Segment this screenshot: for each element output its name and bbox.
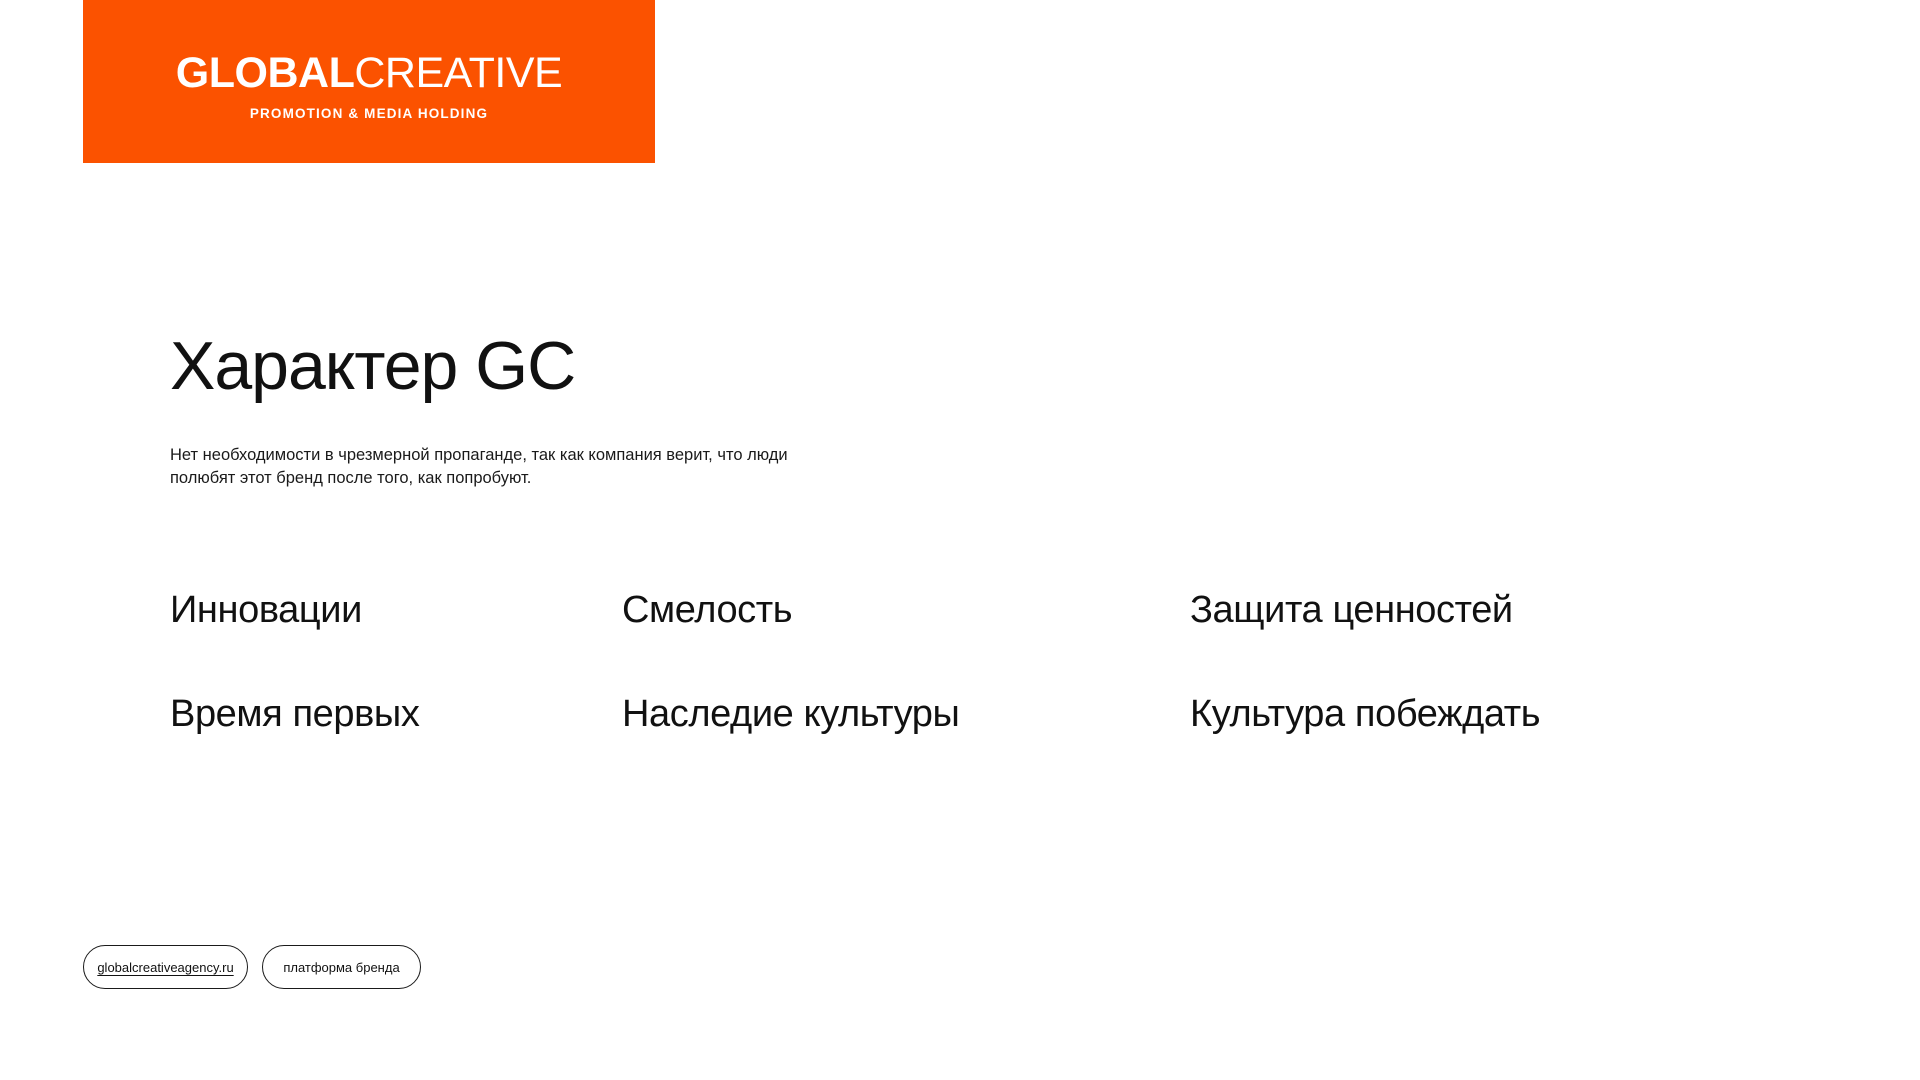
values-grid: Инновации Смелость Защита ценностей Врем… bbox=[170, 588, 1590, 737]
value-item: Время первых bbox=[170, 692, 622, 738]
value-item: Смелость bbox=[622, 588, 1190, 634]
value-item: Инновации bbox=[170, 588, 622, 634]
slide-root: GLOBAL CREATIVE PROMOTION & MEDIA HOLDIN… bbox=[0, 0, 1920, 1080]
brand-platform-tag-label: платформа бренда bbox=[283, 960, 399, 975]
value-item: Наследие культуры bbox=[622, 692, 1190, 738]
page-title: Характер GC bbox=[170, 330, 575, 403]
brand-wordmark-bold: GLOBAL bbox=[176, 52, 355, 95]
value-item: Защита ценностей bbox=[1190, 588, 1590, 634]
brand-tagline: PROMOTION & MEDIA HOLDING bbox=[250, 106, 488, 121]
website-link-label: globalcreativeagency.ru bbox=[97, 960, 233, 975]
brand-logo-block: GLOBAL CREATIVE PROMOTION & MEDIA HOLDIN… bbox=[83, 0, 655, 163]
intro-paragraph: Нет необходимости в чрезмерной пропаганд… bbox=[170, 444, 830, 491]
website-link-pill[interactable]: globalcreativeagency.ru bbox=[83, 945, 248, 989]
brand-wordmark: GLOBAL CREATIVE bbox=[176, 52, 562, 95]
value-item: Культура побеждать bbox=[1190, 692, 1590, 738]
brand-platform-tag-pill[interactable]: платформа бренда bbox=[262, 945, 421, 989]
brand-wordmark-light: CREATIVE bbox=[354, 52, 562, 95]
footer-pills: globalcreativeagency.ru платформа бренда bbox=[83, 945, 421, 989]
